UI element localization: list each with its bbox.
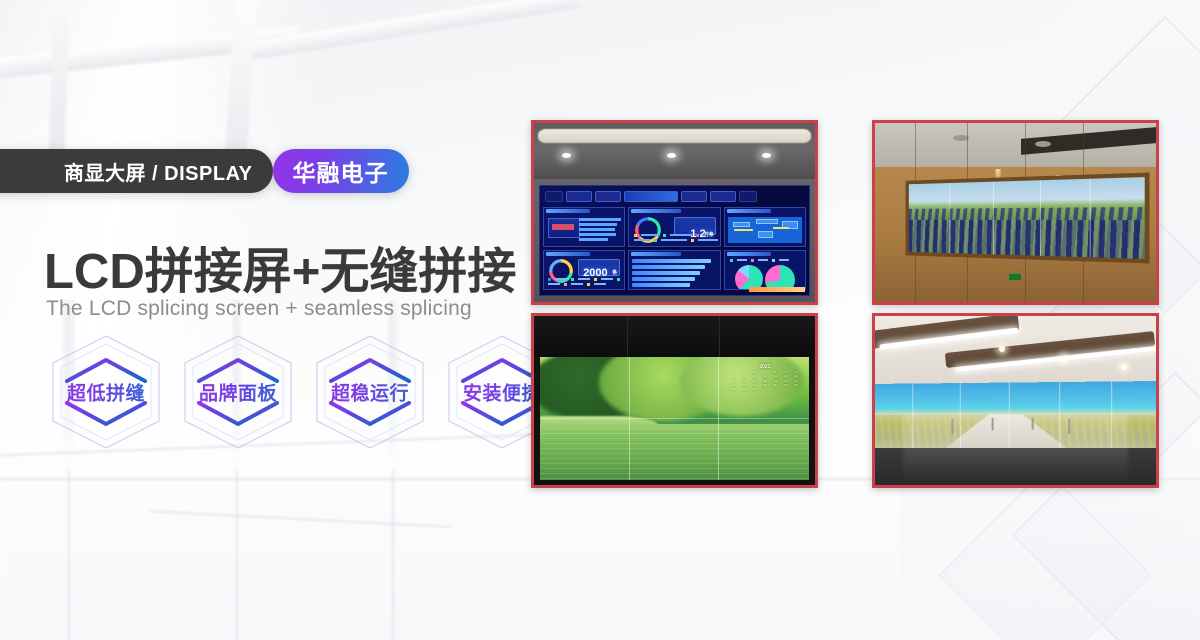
kpi-unit: 条: [612, 269, 617, 276]
product-photo-solar-wall: [872, 120, 1159, 305]
category-badge: 商显大屏 / DISPLAY: [0, 149, 273, 193]
floor-seam: [236, 470, 238, 640]
feature-label: 超稳运行: [311, 379, 429, 406]
product-photo-lake-wall: 2021 1234567 891011121314 15161718192021…: [531, 313, 818, 488]
feature-hexagon: 超稳运行: [311, 333, 429, 451]
floor-seam: [68, 470, 70, 640]
floor-seam: [392, 470, 394, 640]
badge-row: 商显大屏 / DISPLAY 华融电子: [48, 149, 409, 193]
feature-hexagon-row: 超低拼缝 品牌面板 超稳运行: [47, 333, 561, 451]
feature-hexagon: 品牌面板: [179, 333, 297, 451]
page-subtitle: The LCD splicing screen + seamless splic…: [46, 297, 472, 321]
feature-label: 超低拼缝: [47, 379, 165, 406]
video-wall-screen: 1.2 万条: [539, 185, 810, 296]
brand-badge-label: 华融电子: [293, 154, 389, 188]
video-wall-screen: [909, 177, 1145, 259]
brand-badge: 华融电子: [273, 149, 409, 193]
calendar-overlay: 2021 1234567 891011121314 15161718192021…: [728, 364, 801, 421]
video-wall-screen: 2021 1234567 891011121314 15161718192021…: [540, 357, 810, 480]
feature-label: 品牌面板: [179, 379, 297, 406]
product-photo-beach-wall: [872, 313, 1159, 488]
product-banner: 商显大屏 / DISPLAY 华融电子 LCD拼接屏+无缝拼接 The LCD …: [0, 0, 1200, 640]
feature-hexagon: 超低拼缝: [47, 333, 165, 451]
product-photo-dashboard: 1.2 万条: [531, 120, 818, 305]
video-wall-frame: [905, 172, 1149, 263]
page-title: LCD拼接屏+无缝拼接: [44, 232, 516, 303]
category-badge-label: 商显大屏 / DISPLAY: [64, 157, 253, 186]
